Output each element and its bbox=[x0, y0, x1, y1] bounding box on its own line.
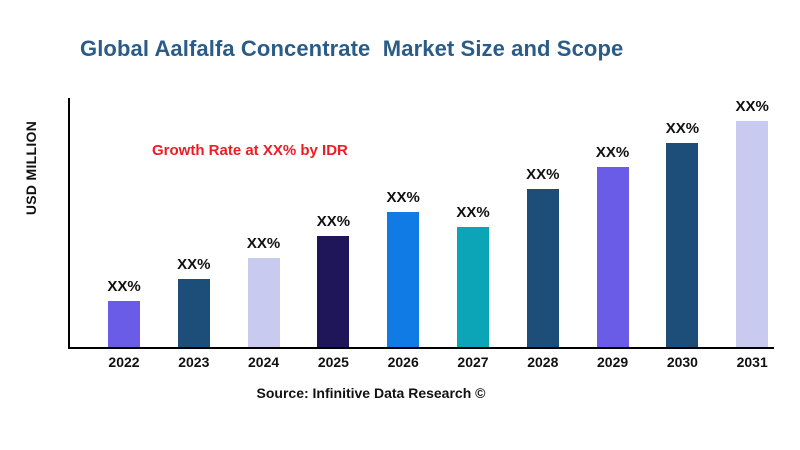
x-tick-label-2029: 2029 bbox=[583, 354, 643, 370]
bar-2031[interactable]: XX% bbox=[736, 121, 768, 347]
bar-2024[interactable]: XX% bbox=[248, 258, 280, 347]
bar-2029[interactable]: XX% bbox=[597, 167, 629, 347]
bar-2022[interactable]: XX% bbox=[108, 301, 140, 347]
y-axis-line bbox=[68, 98, 70, 349]
chart-title: Global Aalfalfa Concentrate Market Size … bbox=[80, 36, 623, 62]
bar-value-label: XX% bbox=[736, 98, 769, 115]
bar-2030[interactable]: XX% bbox=[666, 143, 698, 347]
bar-value-label: XX% bbox=[387, 189, 420, 206]
bar-2025[interactable]: XX% bbox=[317, 236, 349, 347]
x-tick-label-2022: 2022 bbox=[94, 354, 154, 370]
bar-2026[interactable]: XX% bbox=[387, 212, 419, 347]
plot-area: XX%XX%XX%XX%XX%XX%XX%XX%XX%XX% bbox=[68, 98, 774, 349]
x-tick-label-2027: 2027 bbox=[443, 354, 503, 370]
x-tick-label-2025: 2025 bbox=[303, 354, 363, 370]
bar-value-label: XX% bbox=[107, 278, 140, 295]
bar-value-label: XX% bbox=[666, 120, 699, 137]
bar-2027[interactable]: XX% bbox=[457, 227, 489, 347]
x-tick-label-2026: 2026 bbox=[373, 354, 433, 370]
bar-value-label: XX% bbox=[526, 166, 559, 183]
y-axis-title: USD MILLION bbox=[23, 108, 39, 228]
source-caption: Source: Infinitive Data Research © bbox=[0, 385, 742, 401]
bar-2023[interactable]: XX% bbox=[178, 279, 210, 347]
bar-value-label: XX% bbox=[456, 204, 489, 221]
x-tick-label-2023: 2023 bbox=[164, 354, 224, 370]
bar-chart: Global Aalfalfa Concentrate Market Size … bbox=[0, 0, 800, 450]
bar-2028[interactable]: XX% bbox=[527, 189, 559, 347]
bar-value-label: XX% bbox=[317, 213, 350, 230]
bar-value-label: XX% bbox=[596, 144, 629, 161]
x-axis-line bbox=[68, 347, 774, 349]
bar-value-label: XX% bbox=[247, 235, 280, 252]
x-tick-label-2028: 2028 bbox=[513, 354, 573, 370]
x-tick-label-2030: 2030 bbox=[652, 354, 712, 370]
x-tick-label-2024: 2024 bbox=[234, 354, 294, 370]
x-tick-label-2031: 2031 bbox=[722, 354, 782, 370]
bar-value-label: XX% bbox=[177, 256, 210, 273]
